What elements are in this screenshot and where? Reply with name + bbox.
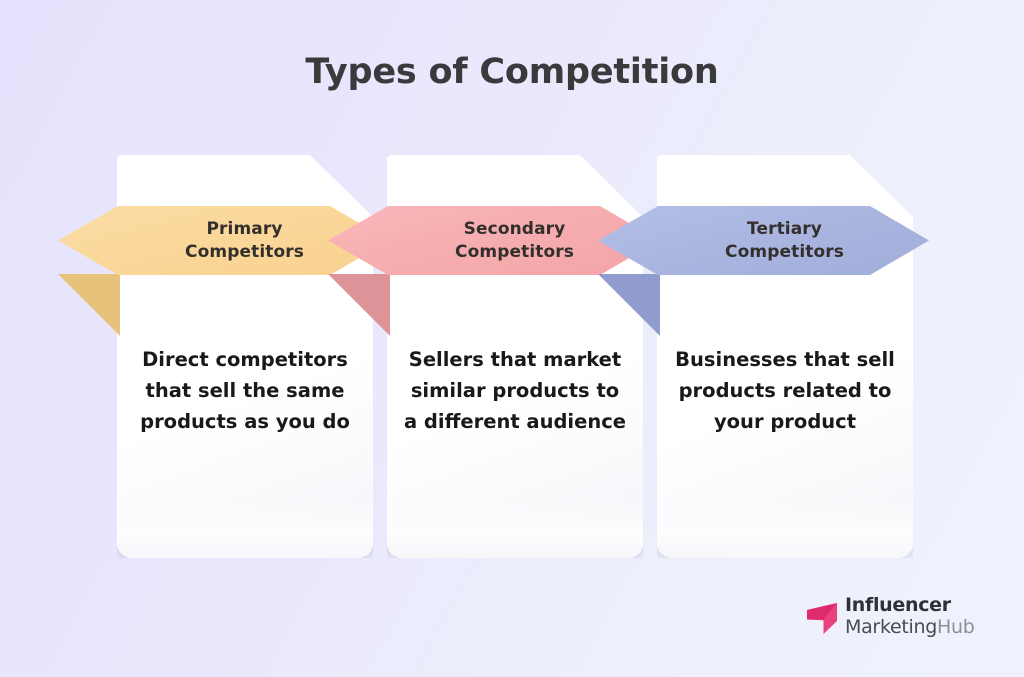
- brand-name-line1: Influencer: [845, 596, 975, 615]
- card-body-text: Businesses that sell products related to…: [671, 345, 899, 437]
- competition-card-primary: Direct competitors that sell the same pr…: [117, 155, 373, 558]
- card-body-text: Direct competitors that sell the same pr…: [131, 345, 359, 437]
- brand-name-line2: MarketingHub: [845, 618, 975, 637]
- infographic-canvas: Types of Competition Direct competitors …: [0, 0, 1024, 677]
- competition-types-group: Direct competitors that sell the same pr…: [0, 155, 1024, 565]
- brand-name-marketing: Marketing: [845, 616, 937, 638]
- brand-name-hub: Hub: [937, 616, 975, 638]
- card-body-text: Sellers that market similar products to …: [401, 345, 629, 437]
- influencer-arrow-icon: [806, 601, 838, 635]
- brand-logo: Influencer MarketingHub: [806, 596, 975, 637]
- banner-fold-shape: [58, 274, 120, 336]
- competition-card-secondary: Sellers that market similar products to …: [387, 155, 643, 558]
- competition-card-tertiary: Businesses that sell products related to…: [657, 155, 913, 558]
- brand-logo-text: Influencer MarketingHub: [845, 596, 975, 637]
- page-title: Types of Competition: [0, 52, 1024, 92]
